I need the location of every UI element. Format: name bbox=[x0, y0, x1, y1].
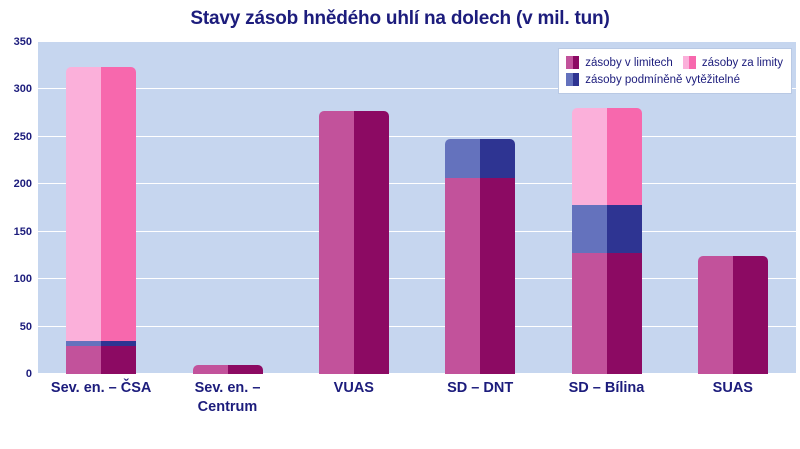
legend-item-zasoby-podminene-vytezitelne[interactable]: zásoby podmíněně vytěžitelné bbox=[566, 73, 740, 86]
bar-segment[interactable] bbox=[319, 111, 389, 374]
legend-label-zasoby-v-limitech: zásoby v limitech bbox=[585, 57, 673, 69]
x-axis-tick-label: Sev. en. –Centrum bbox=[164, 379, 290, 417]
bar-segment[interactable] bbox=[66, 67, 136, 341]
y-axis-tick-label: 0 bbox=[0, 368, 32, 380]
bar-segment[interactable] bbox=[572, 253, 642, 374]
bar-stack bbox=[193, 365, 263, 374]
bar-segment[interactable] bbox=[66, 341, 136, 346]
y-axis-tick-label: 150 bbox=[0, 226, 32, 238]
legend-label-zasoby-za-limity: zásoby za limity bbox=[702, 57, 783, 69]
legend-item-zasoby-za-limity[interactable]: zásoby za limity bbox=[683, 56, 783, 69]
y-axis-tick-label: 350 bbox=[0, 36, 32, 48]
bar-stack bbox=[572, 108, 642, 374]
legend-item-zasoby-v-limitech[interactable]: zásoby v limitech bbox=[566, 56, 673, 69]
legend-label-zasoby-podminene-vytezitelne: zásoby podmíněně vytěžitelné bbox=[585, 74, 740, 86]
x-axis-tick-label: SD – DNT bbox=[417, 379, 543, 398]
legend-row-2: zásoby podmíněně vytěžitelné bbox=[566, 71, 783, 88]
x-axis-tick-label: Sev. en. – ČSA bbox=[38, 379, 164, 398]
bar-segment[interactable] bbox=[66, 346, 136, 374]
y-axis-tick-label: 250 bbox=[0, 131, 32, 143]
legend-row-1: zásoby v limitech zásoby za limity bbox=[566, 54, 783, 71]
bar-segment[interactable] bbox=[572, 108, 642, 205]
bar-segment[interactable] bbox=[572, 205, 642, 252]
y-axis-tick-label: 50 bbox=[0, 321, 32, 333]
bar-group[interactable] bbox=[66, 42, 136, 374]
chart-title: Stavy zásob hnědého uhlí na dolech (v mi… bbox=[0, 8, 800, 30]
legend-swatch-zasoby-v-limitech bbox=[566, 56, 579, 69]
bar-stack bbox=[319, 111, 389, 374]
x-axis: Sev. en. – ČSASev. en. –CentrumVUASSD – … bbox=[38, 379, 796, 439]
chart-container: Stavy zásob hnědého uhlí na dolech (v mi… bbox=[0, 0, 800, 449]
bar-stack bbox=[698, 256, 768, 374]
bar-segment[interactable] bbox=[445, 178, 515, 374]
x-axis-tick-label: SD – Bílina bbox=[543, 379, 669, 398]
bar-segment[interactable] bbox=[445, 139, 515, 178]
bar-segment[interactable] bbox=[193, 365, 263, 374]
chart-legend: zásoby v limitech zásoby za limity zásob… bbox=[558, 48, 792, 94]
bar-stack bbox=[66, 67, 136, 374]
bar-segment[interactable] bbox=[698, 256, 768, 374]
legend-swatch-zasoby-za-limity bbox=[683, 56, 696, 69]
y-axis: 050100150200250300350 bbox=[0, 42, 32, 374]
y-axis-tick-label: 300 bbox=[0, 83, 32, 95]
x-axis-tick-label: VUAS bbox=[291, 379, 417, 398]
bar-stack bbox=[445, 139, 515, 374]
y-axis-tick-label: 100 bbox=[0, 273, 32, 285]
bar-group[interactable] bbox=[445, 42, 515, 374]
bar-group[interactable] bbox=[193, 42, 263, 374]
x-axis-tick-label: SUAS bbox=[670, 379, 796, 398]
y-axis-tick-label: 200 bbox=[0, 178, 32, 190]
bar-group[interactable] bbox=[319, 42, 389, 374]
legend-swatch-zasoby-podminene-vytezitelne bbox=[566, 73, 579, 86]
